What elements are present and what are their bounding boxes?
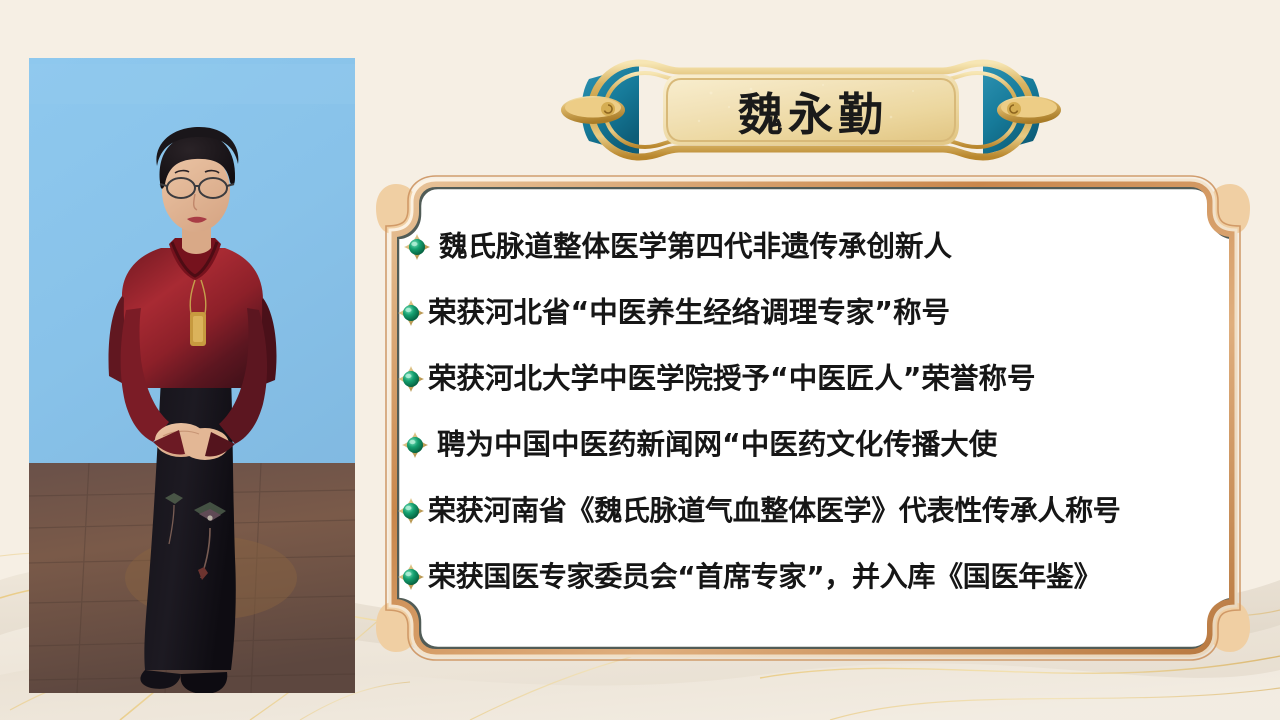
list-item-label: 魏氏脉道整体医学第四代非遗传承创新人 <box>439 233 952 262</box>
list-item-label: 荣获河南省《魏氏脉道气血整体医学》代表性传承人称号 <box>428 497 1121 525</box>
credentials-card: 魏氏脉道整体医学第四代非遗传承创新人 荣获河北省“中医养生经络调理专家”称号 <box>372 172 1254 664</box>
title-banner: 魏永勤 <box>561 55 1061 165</box>
portrait-photo-image <box>29 58 355 693</box>
list-item: 聘为中国中医药新闻网“中医药文化传播大使 <box>398 416 1238 474</box>
list-item: 魏氏脉道整体医学第四代非遗传承创新人 <box>398 218 1238 276</box>
list-item-label: 荣获河北大学中医学院授予“中医匠人”荣誉称号 <box>428 365 1035 394</box>
list-item-label: 聘为中国中医药新闻网“中医药文化传播大使 <box>437 431 997 460</box>
credentials-list: 魏氏脉道整体医学第四代非遗传承创新人 荣获河北省“中医养生经络调理专家”称号 <box>398 218 1238 618</box>
page-title: 魏永勤 <box>561 55 1061 165</box>
green-gem-bullet-icon <box>402 432 428 458</box>
list-item-label: 荣获河北省“中医养生经络调理专家”称号 <box>428 299 950 328</box>
list-item: 荣获河北省“中医养生经络调理专家”称号 <box>398 284 1238 342</box>
list-item: 荣获河北大学中医学院授予“中医匠人”荣誉称号 <box>398 350 1238 408</box>
list-item: 荣获河南省《魏氏脉道气血整体医学》代表性传承人称号 <box>398 482 1238 540</box>
list-item-label: 荣获国医专家委员会“首席专家”，并入库《国医年鉴》 <box>428 563 1101 591</box>
green-gem-bullet-icon <box>398 498 424 524</box>
portrait-photo <box>29 58 355 693</box>
green-gem-bullet-icon <box>398 564 424 590</box>
green-gem-bullet-icon <box>398 366 424 392</box>
list-item: 荣获国医专家委员会“首席专家”，并入库《国医年鉴》 <box>398 548 1238 606</box>
green-gem-bullet-icon <box>398 300 424 326</box>
green-gem-bullet-icon <box>404 234 430 260</box>
slide-canvas: 魏永勤 <box>0 0 1280 720</box>
